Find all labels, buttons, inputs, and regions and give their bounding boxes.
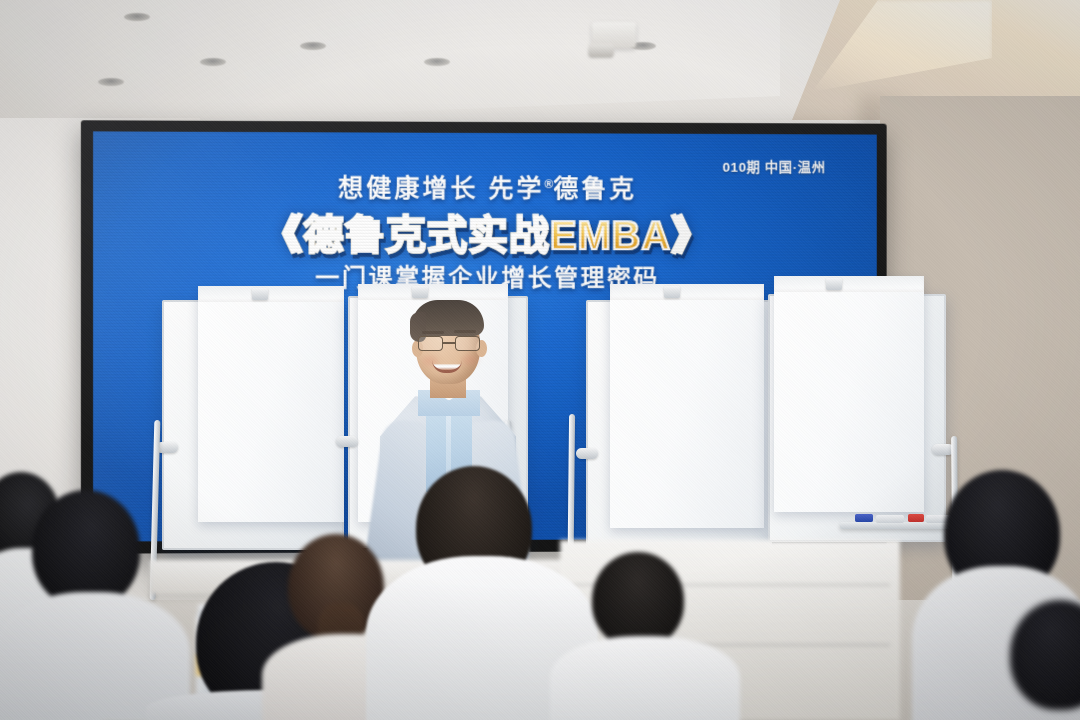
slide-main-title: 《德鲁克式实战EMBA》 xyxy=(93,202,877,262)
ceiling-spotlight-icon xyxy=(300,42,326,50)
paper-clip-icon xyxy=(412,286,428,298)
slide-headline-line: 想健康增长 先学®德鲁克 xyxy=(93,168,877,206)
flipchart-paper xyxy=(610,284,764,528)
paper-clip-icon xyxy=(826,278,842,290)
marker-red[interactable] xyxy=(908,514,924,522)
ceiling-spotlight-icon xyxy=(424,58,450,66)
marker-tray xyxy=(840,522,960,529)
paper-fold xyxy=(774,276,924,292)
marker-blue[interactable] xyxy=(855,514,873,522)
paper-fold xyxy=(198,286,344,302)
marker-body-white[interactable] xyxy=(876,515,904,523)
flipchart-right-2[interactable] xyxy=(768,294,946,542)
ceiling-spotlight-icon xyxy=(200,58,226,66)
slide-headline-suffix: 德鲁克 xyxy=(553,175,637,203)
flipchart-knob xyxy=(336,436,358,447)
attendee-head xyxy=(32,490,140,608)
attendee-torso xyxy=(550,636,740,720)
slide-headline-prefix: 想健康增长 先学 xyxy=(338,175,544,204)
flipchart-paper xyxy=(198,286,344,522)
flipchart-paper xyxy=(774,276,924,512)
ceiling-spotlight-icon xyxy=(98,78,124,86)
presenter-cheek-right xyxy=(462,355,478,365)
flipchart-knob xyxy=(576,448,598,459)
glasses-icon xyxy=(418,336,480,351)
presenter-brow-left xyxy=(422,331,444,334)
projector-lens-icon xyxy=(588,44,614,58)
presenter-brow-right xyxy=(454,330,476,333)
glasses-lens-right xyxy=(455,336,480,351)
flipchart-left-1[interactable] xyxy=(162,300,344,550)
glasses-bridge xyxy=(443,342,455,344)
paper-clip-icon xyxy=(252,288,268,300)
flipchart-right-1[interactable] xyxy=(586,300,772,556)
paper-clip-icon xyxy=(664,286,680,298)
attendee-head xyxy=(592,552,684,648)
ceiling-spotlight-icon xyxy=(124,13,150,21)
seminar-room-photo: 010期 中国·温州 想健康增长 先学®德鲁克 《德鲁克式实战EMBA》 一门课… xyxy=(0,0,1080,720)
paper-fold xyxy=(610,284,764,300)
glasses-lens-left xyxy=(418,336,443,351)
paper-fold xyxy=(358,284,508,300)
